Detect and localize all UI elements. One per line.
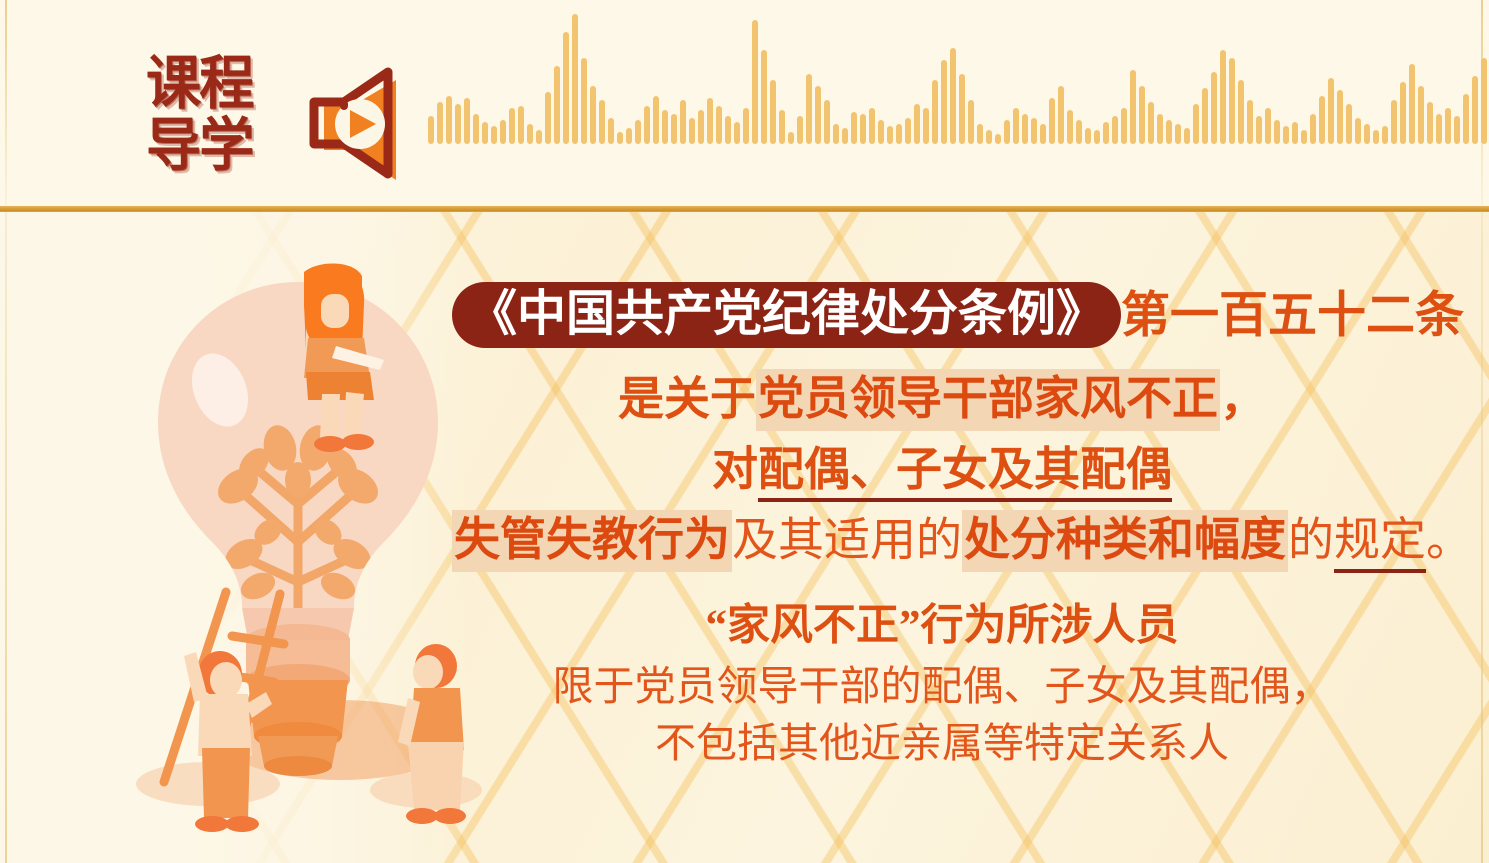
waveform-bar [923, 108, 929, 144]
waveform-bar [1067, 110, 1073, 144]
waveform-bar [437, 102, 443, 144]
line3-underline-2: 子女及其配偶 [896, 444, 1172, 502]
waveform-bar [869, 108, 875, 144]
waveform-bar [725, 116, 731, 144]
article-number: 第一百五十二条 [1121, 288, 1464, 343]
text-line-4: 失管失教行为及其适用的处分种类和幅度的规定。 [452, 513, 1432, 563]
poster-canvas: 课程 导学 [0, 0, 1489, 863]
waveform-bar [797, 116, 803, 144]
regulation-title-pill: 《中国共产党纪律处分条例》 [452, 282, 1121, 348]
waveform-bar [1058, 86, 1064, 144]
waveform-bar [1004, 120, 1010, 144]
waveform-bar [743, 108, 749, 144]
waveform-bar [896, 124, 902, 144]
waveform-bar [1112, 116, 1118, 144]
waveform-bar [851, 112, 857, 144]
waveform-bar [1328, 78, 1334, 144]
waveform-bar [779, 110, 785, 144]
waveform-bar [1211, 72, 1217, 144]
waveform-bar [968, 100, 974, 144]
waveform-bar [554, 66, 560, 144]
waveform-bar [1265, 108, 1271, 144]
waveform-bar [1436, 114, 1442, 144]
waveform-bar [1220, 50, 1226, 144]
waveform-bar [428, 116, 434, 144]
waveform-bar [1130, 70, 1136, 144]
article-text-block: 《中国共产党纪律处分条例》第一百五十二条 是关于党员领导干部家风不正， 对配偶、… [452, 282, 1432, 764]
line4-tail-suffix: 。 [1426, 514, 1472, 565]
waveform-bar [1121, 108, 1127, 144]
waveform-bar [1049, 98, 1055, 144]
waveform-bar [824, 100, 830, 144]
waveform-bar [455, 104, 461, 144]
text-line-1: 《中国共产党纪律处分条例》第一百五十二条 [452, 282, 1432, 348]
waveform-bar [1337, 90, 1343, 144]
waveform-bar [491, 126, 497, 144]
waveform-bar [1238, 80, 1244, 144]
line7-text: 不包括其他近亲属等特定关系人 [655, 720, 1229, 766]
waveform-bar [1391, 100, 1397, 144]
waveform-bar [581, 58, 587, 144]
waveform-bar [653, 96, 659, 144]
waveform-bar [446, 96, 452, 144]
waveform-bar [1103, 122, 1109, 144]
line2-highlight: 党员领导干部家风不正 [756, 369, 1220, 431]
waveform-bar [1400, 82, 1406, 144]
waveform-bar [1301, 130, 1307, 144]
waveform-bar [1085, 128, 1091, 144]
waveform-bar [1481, 58, 1487, 144]
waveform-bar [482, 122, 488, 144]
waveform-bar [545, 92, 551, 144]
waveform-bar [518, 106, 524, 144]
waveform-bar [1373, 130, 1379, 144]
stage-left-rule [5, 212, 7, 863]
waveform-bar [986, 130, 992, 144]
waveform-bar [716, 106, 722, 144]
logo-line-2: 导学 [146, 114, 270, 176]
waveform-bar [1418, 86, 1424, 144]
line4-tail-prefix: 的 [1288, 514, 1334, 565]
waveform-bar [572, 14, 578, 144]
waveform-bar [860, 114, 866, 144]
waveform-bar [1427, 102, 1433, 144]
waveform-bar [1040, 124, 1046, 144]
waveform-bar [1472, 76, 1478, 144]
waveform-bar [1445, 108, 1451, 144]
waveform-bar [527, 124, 533, 144]
waveform-bar [1346, 104, 1352, 144]
text-line-3: 对配偶、子女及其配偶 [452, 442, 1432, 492]
waveform-bar [1022, 114, 1028, 144]
waveform-bar [734, 122, 740, 144]
waveform-bar [536, 130, 542, 144]
content-stage: 《中国共产党纪律处分条例》第一百五十二条 是关于党员领导干部家风不正， 对配偶、… [0, 212, 1489, 863]
waveform-bar [1202, 88, 1208, 144]
stage-right-rule [1481, 212, 1483, 863]
waveform-bar [464, 98, 470, 144]
waveform-bar [473, 114, 479, 144]
waveform-bar [1157, 114, 1163, 144]
waveform-bar [680, 100, 686, 144]
waveform-bar [1229, 58, 1235, 144]
waveform-bar [977, 124, 983, 144]
line2-suffix: ， [1220, 373, 1266, 424]
waveform-bar [995, 134, 1001, 144]
waveform-bar [1166, 120, 1172, 144]
waveform-bar [887, 126, 893, 144]
waveform-bar [671, 114, 677, 144]
course-guide-logo: 课程 导学 [146, 52, 276, 176]
waveform-bar [833, 124, 839, 144]
waveform-bar [1193, 104, 1199, 144]
lightbulb-tree-people-illustration [108, 242, 488, 842]
line6-text: 限于党员领导干部的配偶、子女及其配偶， [553, 663, 1332, 709]
waveform-bar [1454, 116, 1460, 144]
audio-waveform [428, 34, 1373, 144]
waveform-bar [1364, 124, 1370, 144]
waveform-bar [1283, 126, 1289, 144]
waveform-bar [707, 98, 713, 144]
waveform-bar [1292, 122, 1298, 144]
waveform-bar [878, 120, 884, 144]
waveform-bar [1148, 102, 1154, 144]
waveform-bar [1175, 124, 1181, 144]
header-left-rule [5, 0, 7, 212]
waveform-bar [1463, 94, 1469, 144]
waveform-bar [950, 48, 956, 144]
line3-prefix: 对 [712, 444, 758, 495]
waveform-bar [509, 108, 515, 144]
line4-tail-underline: 规定 [1334, 514, 1426, 573]
waveform-bar [1139, 86, 1145, 144]
waveform-bar [1319, 96, 1325, 144]
waveform-bar [689, 118, 695, 144]
line4-middle: 及其适用的 [732, 514, 962, 565]
waveform-bar [563, 32, 569, 144]
speaker-play-icon[interactable] [300, 58, 420, 180]
waveform-bar [959, 74, 965, 144]
waveform-bar [788, 132, 794, 144]
waveform-bar [662, 110, 668, 144]
waveform-bar [1310, 114, 1316, 144]
waveform-bar [626, 128, 632, 144]
waveform-bar [644, 106, 650, 144]
waveform-bar [1094, 130, 1100, 144]
line5-text: “家风不正”行为所涉人员 [706, 603, 1179, 650]
logo-line-1: 课程 [146, 52, 270, 114]
waveform-bar [815, 86, 821, 144]
waveform-bar [842, 128, 848, 144]
waveform-bar [1382, 126, 1388, 144]
text-line-6: 限于党员领导干部的配偶、子女及其配偶， [452, 662, 1432, 707]
header-bar: 课程 导学 [0, 0, 1489, 212]
text-line-5: “家风不正”行为所涉人员 [452, 601, 1432, 648]
waveform-bar [500, 120, 506, 144]
waveform-bar [1256, 116, 1262, 144]
waveform-bar [1409, 64, 1415, 144]
waveform-bar [1355, 118, 1361, 144]
text-line-7: 不包括其他近亲属等特定关系人 [452, 719, 1432, 764]
waveform-bar [914, 104, 920, 144]
line4-highlight-1: 失管失教行为 [452, 510, 732, 572]
waveform-bar [617, 132, 623, 144]
waveform-bar [1274, 120, 1280, 144]
waveform-bar [1013, 108, 1019, 144]
waveform-bar [590, 86, 596, 144]
waveform-bar [752, 20, 758, 144]
waveform-bar [905, 118, 911, 144]
waveform-bar [932, 80, 938, 144]
waveform-bar [635, 120, 641, 144]
line2-prefix: 是关于 [618, 373, 756, 424]
waveform-bar [941, 60, 947, 144]
line3-underline-1: 配偶、 [758, 444, 896, 502]
waveform-bar [599, 100, 605, 144]
waveform-bar [608, 118, 614, 144]
waveform-bar [806, 74, 812, 144]
waveform-bar [1031, 118, 1037, 144]
waveform-bar [761, 50, 767, 144]
waveform-bar [1076, 120, 1082, 144]
text-line-2: 是关于党员领导干部家风不正， [452, 372, 1432, 422]
line4-highlight-2: 处分种类和幅度 [962, 510, 1288, 572]
waveform-bar [770, 80, 776, 144]
waveform-bar [1247, 100, 1253, 144]
waveform-bar [1184, 128, 1190, 144]
waveform-bar [698, 110, 704, 144]
